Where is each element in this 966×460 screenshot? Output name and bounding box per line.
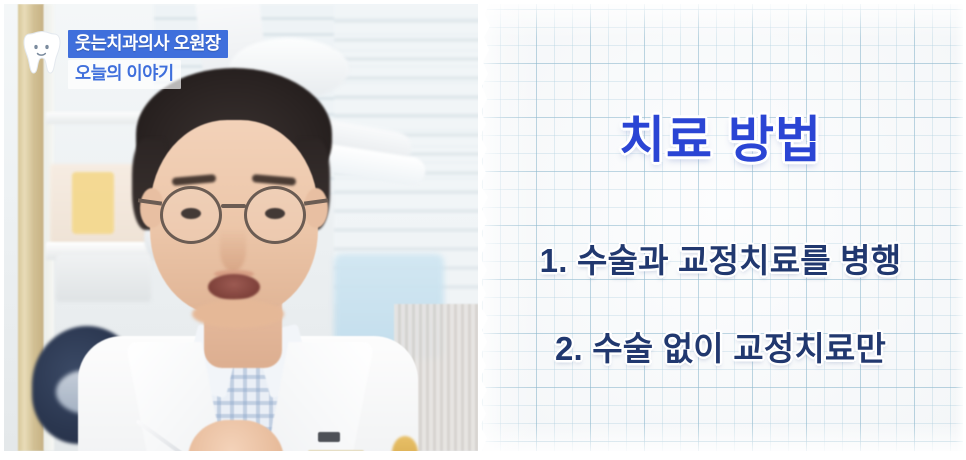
paper-content: 치료 방법 1. 수술과 교정치료를 병행 2. 수술 없이 교정치료만 xyxy=(478,4,963,451)
dentist-figure xyxy=(96,68,396,451)
paper-right-highlight xyxy=(955,4,963,451)
banner-text-lines: 웃는치과의사 오원장 오늘의 이야기 xyxy=(68,28,228,89)
chin xyxy=(192,300,284,328)
list-item: 1. 수술과 교정치료를 병행 xyxy=(478,234,963,282)
smiling-tooth-icon xyxy=(22,28,62,76)
banner-line-1: 웃는치과의사 오원장 xyxy=(68,30,228,58)
screenshot-root: 웃는치과의사 오원장 오늘의 이야기 치료 방법 1. 수술과 교정치료를 병행… xyxy=(0,0,966,460)
page-title: 치료 방법 xyxy=(478,100,963,172)
glasses-bridge xyxy=(221,204,246,208)
list-item: 2. 수술 없이 교정치료만 xyxy=(478,322,963,370)
grid-paper-pane: 치료 방법 1. 수술과 교정치료를 병행 2. 수술 없이 교정치료만 xyxy=(478,4,963,451)
ear-right xyxy=(304,188,328,228)
channel-banner: 웃는치과의사 오원장 오늘의 이야기 xyxy=(22,28,228,89)
glasses-lens-left xyxy=(160,186,222,244)
badge-clip xyxy=(318,432,340,442)
nose xyxy=(220,228,246,272)
mouth xyxy=(208,274,260,300)
glasses-lens-right xyxy=(244,186,306,244)
banner-line-2: 오늘의 이야기 xyxy=(68,60,181,88)
video-pane[interactable]: 웃는치과의사 오원장 오늘의 이야기 xyxy=(4,4,484,451)
name-badge xyxy=(308,450,364,451)
